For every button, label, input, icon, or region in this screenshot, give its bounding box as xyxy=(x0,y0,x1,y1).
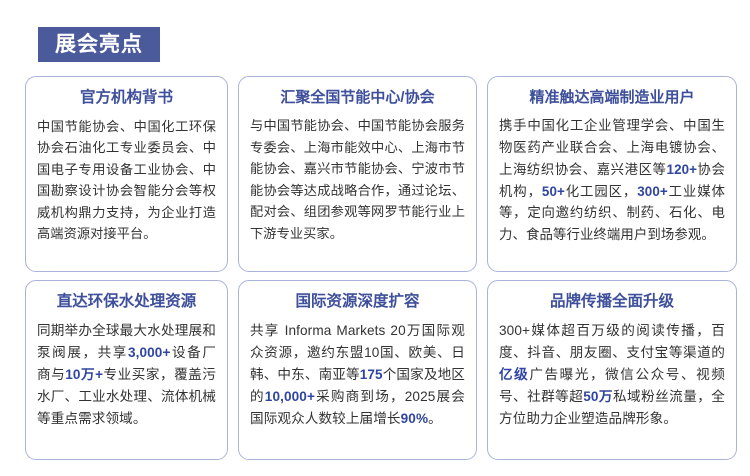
highlight-text: 10万+ xyxy=(65,367,103,382)
highlight-text: 300+ xyxy=(637,184,668,199)
highlight-cards-grid: 官方机构背书 中国节能协会、中国化工环保协会石油化工专业委员会、中国电子专用设备… xyxy=(25,76,725,460)
highlight-text: 90% xyxy=(401,411,429,426)
highlight-card-national-energy-saving-centers[interactable]: 汇聚全国节能中心/协会 与中国节能协会、中国节能协会服务专委会、上海市能效中心、… xyxy=(238,76,477,272)
card-body: 中国节能协会、中国化工环保协会石油化工专业委员会、中国电子专用设备工业协会、中国… xyxy=(37,116,216,245)
card-title: 官方机构背书 xyxy=(37,89,216,108)
highlight-text: 50万 xyxy=(583,389,613,404)
highlight-text: 亿级 xyxy=(499,367,529,382)
section-header-badge: 展会亮点 xyxy=(38,27,160,62)
card-body: 与中国节能协会、中国节能协会服务专委会、上海市能效中心、上海市节能协会、嘉兴市节… xyxy=(250,115,465,244)
card-body: 共享 Informa Markets 20万国际观众资源，邀约东盟10国、欧美、… xyxy=(250,320,465,431)
card-body: 300+媒体超百万级的阅读传播，百度、抖音、朋友圈、支付宝等渠道的亿级广告曝光，… xyxy=(499,320,725,431)
card-title: 汇聚全国节能中心/协会 xyxy=(250,89,465,107)
highlight-text: 50+ xyxy=(542,184,565,199)
section-header-label: 展会亮点 xyxy=(55,34,143,55)
highlight-card-brand-promotion-upgrade[interactable]: 品牌传播全面升级 300+媒体超百万级的阅读传播，百度、抖音、朋友圈、支付宝等渠… xyxy=(487,280,737,460)
highlights-page: 展会亮点 官方机构背书 中国节能协会、中国化工环保协会石油化工专业委员会、中国电… xyxy=(0,0,750,476)
highlight-card-international-resources-expansion[interactable]: 国际资源深度扩容 共享 Informa Markets 20万国际观众资源，邀约… xyxy=(238,280,477,460)
card-title: 国际资源深度扩容 xyxy=(250,293,465,312)
card-title: 品牌传播全面升级 xyxy=(499,293,725,312)
card-title: 精准触达高端制造业用户 xyxy=(499,89,725,107)
highlight-card-official-endorsement[interactable]: 官方机构背书 中国节能协会、中国化工环保协会石油化工专业委员会、中国电子专用设备… xyxy=(25,76,228,272)
highlight-text: 10,000+ xyxy=(265,389,315,404)
highlight-text: 175 xyxy=(360,367,383,382)
highlight-card-water-treatment-resources[interactable]: 直达环保水处理资源 同期举办全球最大水处理展和泵阀展，共享3,000+设备厂商与… xyxy=(25,280,228,460)
card-title: 直达环保水处理资源 xyxy=(37,293,216,312)
card-body: 同期举办全球最大水处理展和泵阀展，共享3,000+设备厂商与10万+专业买家，覆… xyxy=(37,320,216,431)
highlight-text: 3,000+ xyxy=(128,345,171,360)
highlight-card-high-end-manufacturing-users[interactable]: 精准触达高端制造业用户 携手中国化工企业管理学会、中国生物医药产业联合会、上海电… xyxy=(487,76,737,272)
card-body: 携手中国化工企业管理学会、中国生物医药产业联合会、上海电镀协会、上海纺织协会、嘉… xyxy=(499,115,725,246)
highlight-text: 120+ xyxy=(667,162,698,177)
